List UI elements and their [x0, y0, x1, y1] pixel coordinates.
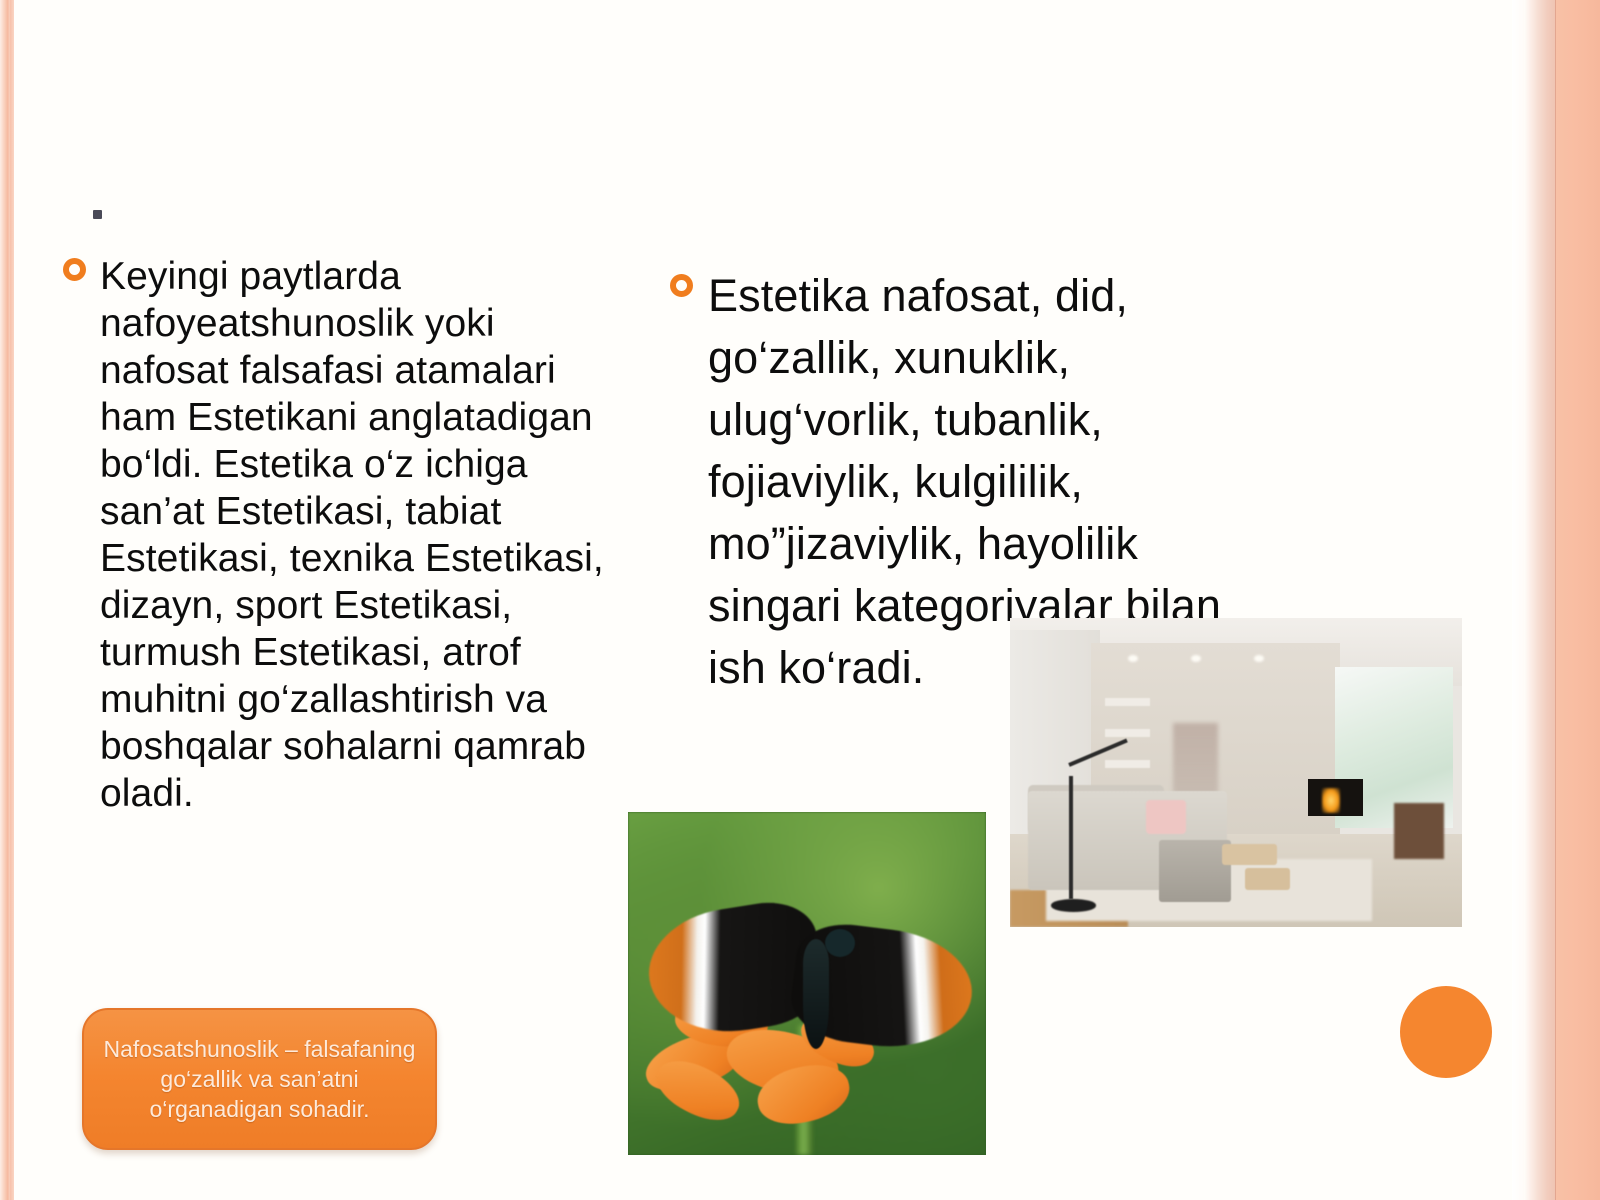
interior-floor-lamp-base	[1051, 899, 1096, 911]
left-border-accent-line	[10, 0, 14, 1200]
butterfly-body	[803, 939, 829, 1049]
interior-armchair	[1394, 803, 1444, 859]
interior-photo	[1010, 618, 1462, 927]
definition-callout-text: Nafosatshunoslik – falsafaning go‘zallik…	[98, 1034, 421, 1124]
interior-flame	[1322, 788, 1340, 813]
orange-circle-decoration	[1400, 986, 1492, 1078]
interior-shelf	[1105, 729, 1150, 737]
interior-floor-lamp-pole	[1069, 776, 1073, 900]
square-bullet-icon	[93, 210, 102, 219]
butterfly-photo	[628, 812, 986, 1155]
right-border-white-gap	[1512, 0, 1524, 1200]
interior-shelf	[1105, 760, 1150, 768]
right-border-band	[1556, 0, 1600, 1200]
interior-shelf	[1105, 698, 1150, 706]
interior-pillow	[1146, 800, 1187, 834]
right-border-light-band	[1524, 0, 1556, 1200]
butterfly-head	[825, 929, 855, 957]
definition-callout-box: Nafosatshunoslik – falsafaning go‘zallik…	[82, 1008, 437, 1150]
interior-downlight-icon	[1191, 655, 1201, 662]
interior-side-stool	[1245, 868, 1290, 890]
interior-coffee-table	[1222, 844, 1276, 866]
left-column-paragraph: Keyingi paytlarda nafoyeatshunoslik yoki…	[100, 253, 628, 817]
ring-bullet-icon-left	[63, 258, 86, 281]
slide-canvas: Keyingi paytlarda nafoyeatshunoslik yoki…	[0, 0, 1600, 1200]
interior-downlight-icon	[1128, 655, 1138, 662]
ring-bullet-icon-right	[670, 274, 693, 297]
interior-ottoman	[1159, 840, 1231, 902]
